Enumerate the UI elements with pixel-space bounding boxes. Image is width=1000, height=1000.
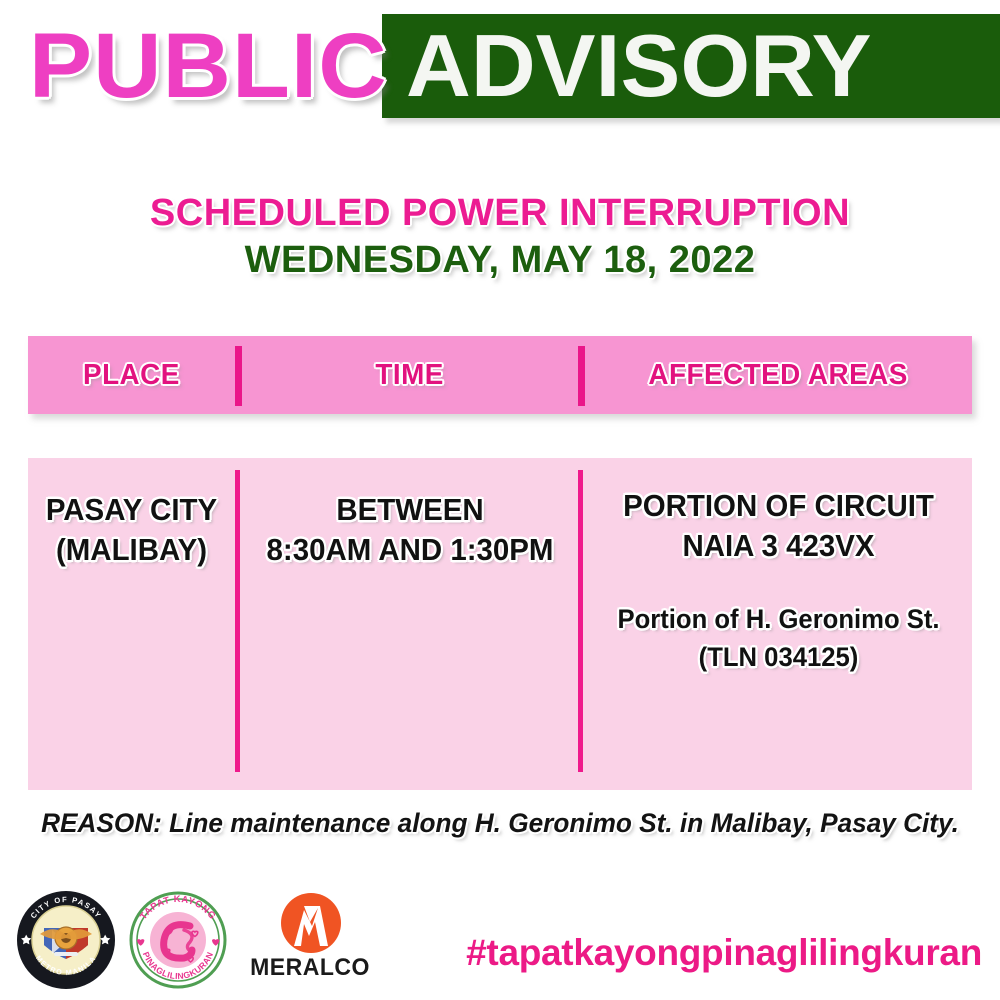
city-of-pasay-seal-logo: CITY OF PASAY METRO MANILA: [16, 890, 116, 990]
subtitle-interruption: SCHEDULED POWER INTERRUPTION: [0, 190, 1000, 236]
cell-areas-circuit-line-1: PORTION OF CIRCUIT: [595, 486, 963, 526]
table-row: PASAY CITY (MALIBAY) BETWEEN 8:30AM AND …: [28, 458, 972, 790]
cell-place-line-2: (MALIBAY): [33, 530, 230, 570]
column-header-time-label: TIME: [376, 359, 444, 392]
header-divider-1: [235, 346, 242, 406]
cell-areas-street-line-1: Portion of H. Geronimo St.: [595, 600, 963, 638]
cell-place-line-1: PASAY CITY: [33, 490, 230, 530]
cell-place: PASAY CITY (MALIBAY): [28, 490, 235, 570]
cell-time: BETWEEN 8:30AM AND 1:30PM: [242, 490, 578, 570]
meralco-lightning-mark-icon: [280, 892, 342, 954]
subtitle-date: WEDNESDAY, MAY 18, 2022: [0, 236, 1000, 284]
title-advisory: ADVISORY: [406, 18, 872, 114]
public-advisory-poster: PUBLIC ADVISORY SCHEDULED POWER INTERRUP…: [0, 0, 1000, 1000]
column-header-time: TIME: [242, 336, 578, 414]
reason-text: REASON: Line maintenance along H. Geroni…: [15, 805, 985, 841]
body-divider-1: [235, 470, 240, 772]
hashtag-text: #tapatkayongpinaglilingkuran: [466, 930, 982, 976]
cell-areas-circuit-line-2: NAIA 3 423VX: [595, 526, 963, 566]
cell-areas-spacer: [585, 566, 972, 600]
column-header-areas: AFFECTED AREAS: [585, 336, 972, 414]
meralco-logo: MERALCO: [242, 892, 378, 990]
meralco-wordmark: MERALCO: [245, 954, 376, 982]
poster-header: PUBLIC ADVISORY: [0, 14, 1000, 118]
column-header-areas-label: AFFECTED AREAS: [649, 359, 908, 392]
body-divider-2: [578, 470, 583, 772]
column-header-place-label: PLACE: [83, 359, 180, 392]
title-public: PUBLIC: [0, 14, 394, 118]
tapat-kayong-pinaglilingkuran-seal-logo: TAPAT KAYONG PINAGLILINGKURAN: [126, 890, 230, 990]
column-header-place: PLACE: [28, 336, 235, 414]
subtitle-block: SCHEDULED POWER INTERRUPTION WEDNESDAY, …: [0, 190, 1000, 284]
cell-time-line-2: 8:30AM AND 1:30PM: [250, 530, 569, 570]
cell-affected-areas: PORTION OF CIRCUIT NAIA 3 423VX Portion …: [585, 486, 972, 676]
table-header-band: PLACE TIME AFFECTED AREAS: [28, 336, 972, 414]
header-divider-2: [578, 346, 585, 406]
title-advisory-block: ADVISORY: [382, 14, 1000, 118]
cell-areas-street-line-2: (TLN 034125): [595, 638, 963, 676]
cell-time-line-1: BETWEEN: [250, 490, 569, 530]
